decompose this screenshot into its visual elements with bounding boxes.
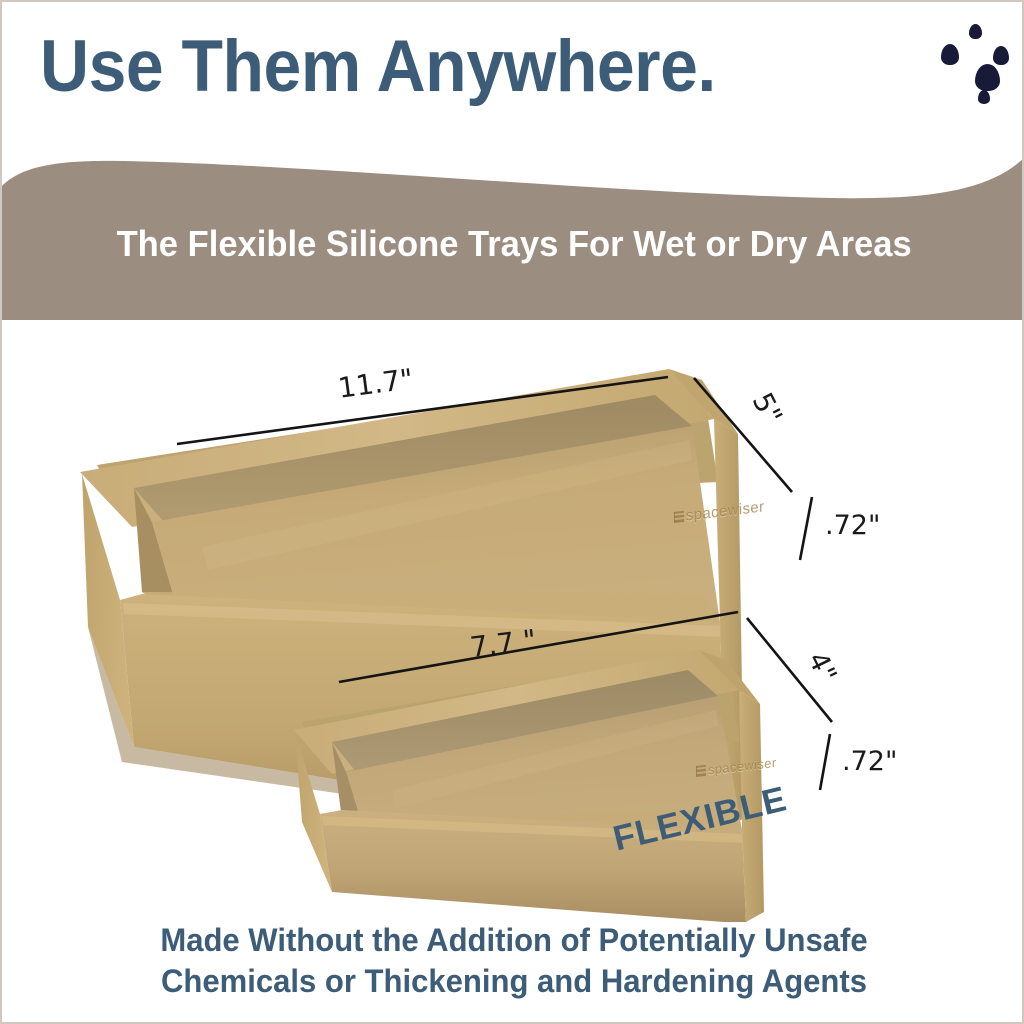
banner-text-wrap: The Flexible Silicone Trays For Wet or D… [2,150,1024,322]
banner-headline: The Flexible Silicone Trays For Wet or D… [116,223,911,265]
water-droplet-icon [975,64,1000,91]
claim-text: Made Without the Addition of Potentially… [2,920,1024,1001]
claim-line-1: Made Without the Addition of Potentially… [17,920,1010,961]
product-infographic: Use Them Anywhere. The Flexible Silicone… [0,0,1024,1024]
dimension-label-small-height: .72" [842,746,897,777]
water-droplet-icon [969,24,982,39]
banner: The Flexible Silicone Trays For Wet or D… [2,150,1024,322]
water-droplet-icon [941,44,959,65]
water-droplet-icon [993,46,1009,65]
water-droplet-cluster [927,16,1022,116]
spacewiser-logo-icon [674,511,684,523]
spacewiser-logo-icon [696,765,706,777]
claim-line-2: Chemicals or Thickening and Hardening Ag… [17,961,1010,1002]
water-droplet-icon [978,90,990,104]
product-illustration [2,322,1024,922]
page-title: Use Them Anywhere. [40,30,716,103]
dimension-label-large-height: .72" [825,510,880,541]
